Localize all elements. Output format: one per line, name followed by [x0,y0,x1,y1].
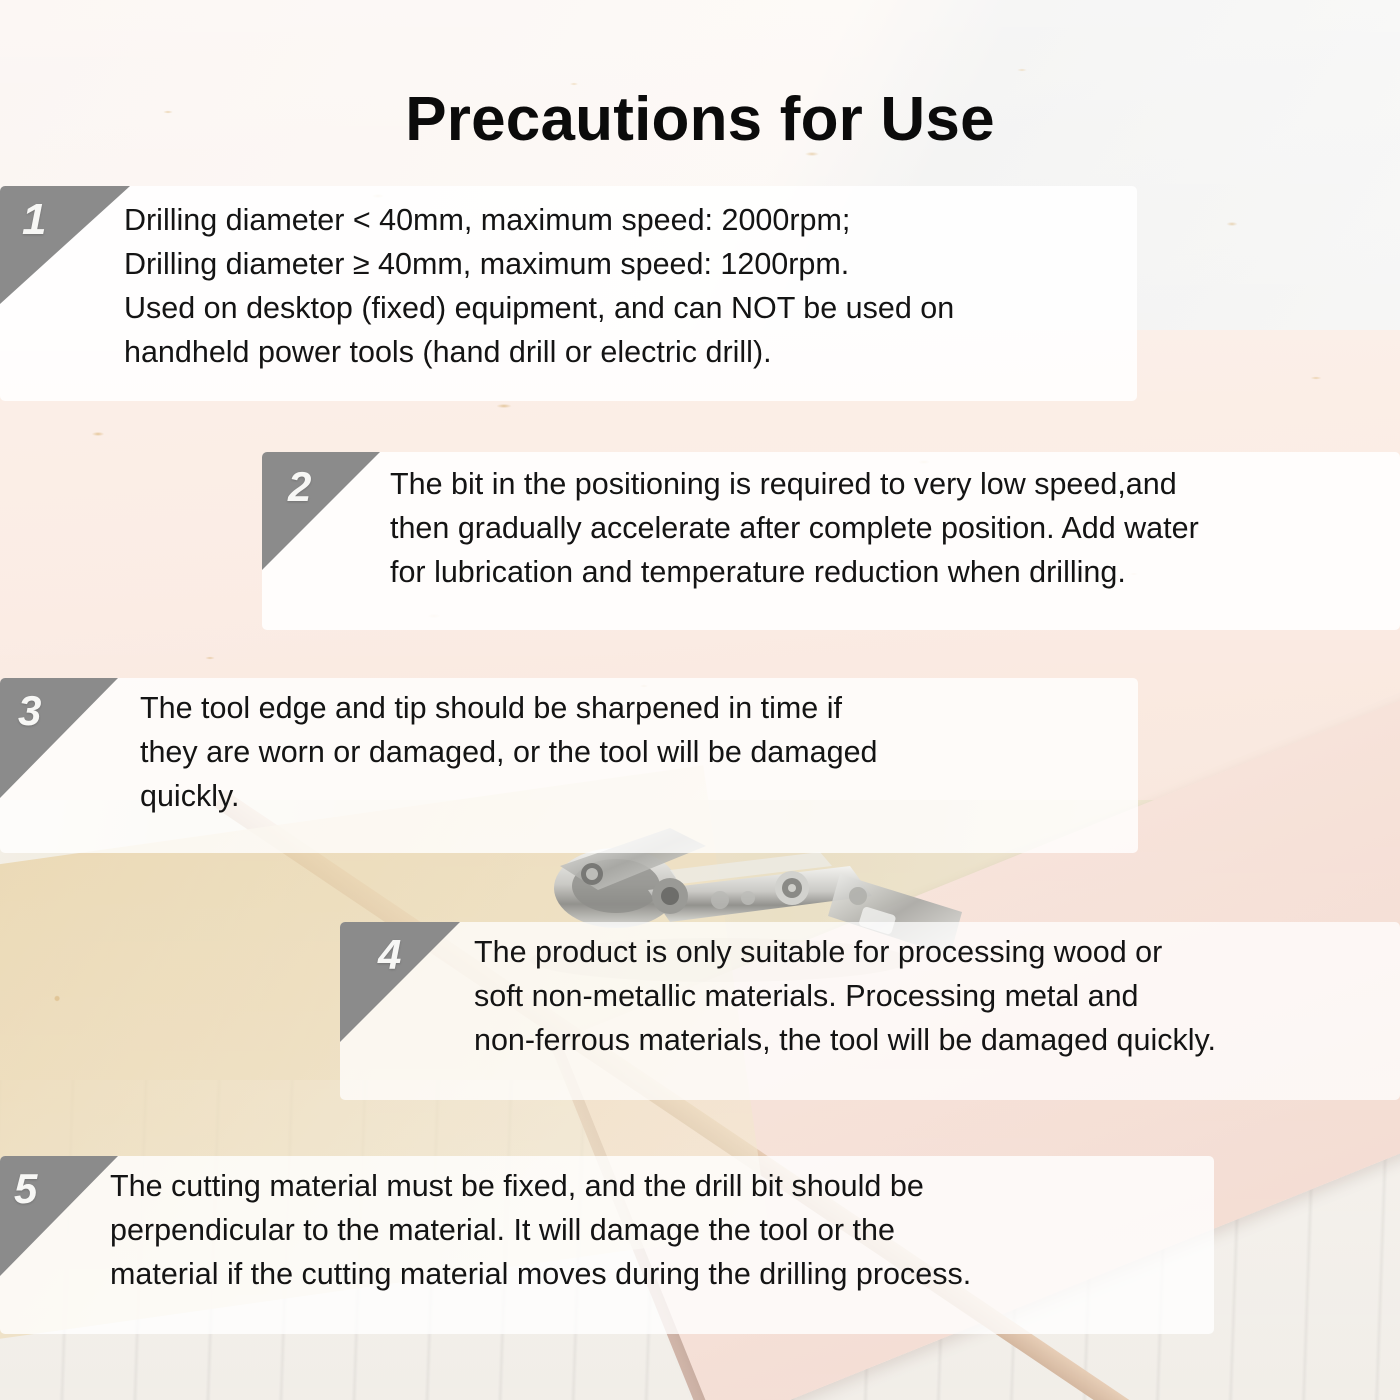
step-number-label: 5 [14,1168,37,1210]
step-number-label: 3 [18,690,41,732]
precaution-item-1: 1 Drilling diameter < 40mm, maximum spee… [0,186,1137,401]
precaution-item-4: 4 The product is only suitable for proce… [340,922,1400,1100]
step-number-badge-2: 2 [262,452,380,570]
step-number-badge-4: 4 [340,922,460,1042]
step-number-badge-3: 3 [0,678,118,798]
precaution-text-2: The bit in the positioning is required t… [390,462,1390,594]
triangle-badge-shape [0,186,130,304]
precaution-item-3: 3 The tool edge and tip should be sharpe… [0,678,1138,853]
page-title: Precautions for Use [0,86,1400,154]
precaution-text-3: The tool edge and tip should be sharpene… [140,686,1080,818]
step-number-label: 4 [378,934,401,976]
step-number-label: 1 [22,198,46,242]
triangle-badge-shape [262,452,380,570]
step-number-badge-5: 5 [0,1156,118,1276]
precaution-text-4: The product is only suitable for process… [474,930,1394,1062]
product-infographic: Precautions for Use 1 Drilling diameter … [0,0,1400,1400]
precaution-item-2: 2 The bit in the positioning is required… [262,452,1400,630]
precaution-item-5: 5 The cutting material must be fixed, an… [0,1156,1214,1334]
precaution-text-1: Drilling diameter < 40mm, maximum speed:… [124,198,1124,374]
step-number-label: 2 [288,466,311,508]
precaution-text-5: The cutting material must be fixed, and … [110,1164,1200,1296]
step-number-badge-1: 1 [0,186,130,304]
